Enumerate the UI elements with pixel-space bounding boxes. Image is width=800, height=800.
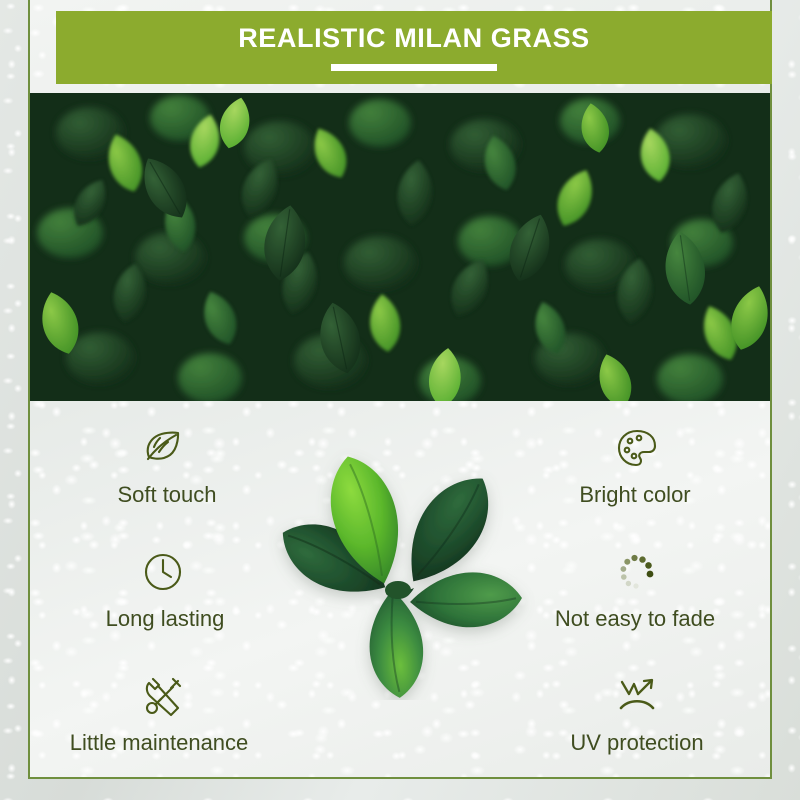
feature-bright-color: Bright color [512, 416, 762, 540]
feature-label: UV protection [512, 730, 762, 755]
tools-wrench-screwdriver-icon [137, 670, 189, 722]
feature-column-right: Bright color Not eas [512, 416, 762, 788]
paint-palette-icon [611, 422, 663, 474]
feature-uv-protection: UV protection [512, 664, 762, 788]
title-underline-rule [331, 64, 497, 71]
feature-label: Little maintenance [34, 730, 284, 755]
feature-label: Soft touch [42, 482, 292, 507]
feature-soft-touch: Soft touch [38, 416, 288, 540]
feature-little-maintenance: Little maintenance [38, 664, 288, 788]
feature-label: Long lasting [40, 606, 290, 631]
page-title: REALISTIC MILAN GRASS [228, 25, 600, 52]
leaf-feather-icon [137, 422, 189, 474]
feature-column-left: Soft touch Long lasting [38, 416, 288, 788]
feature-label: Bright color [510, 482, 760, 507]
title-banner: REALISTIC MILAN GRASS [56, 11, 772, 84]
feature-list: Soft touch Long lasting [30, 404, 770, 777]
hero-grass-photo [30, 93, 770, 401]
fading-dots-circle-icon [611, 546, 663, 598]
feature-long-lasting: Long lasting [38, 540, 288, 664]
product-infographic: REALISTIC MILAN GRASS [0, 0, 800, 800]
uv-rays-shield-icon [611, 670, 663, 722]
feature-not-easy-to-fade: Not easy to fade [512, 540, 762, 664]
clock-icon [137, 546, 189, 598]
feature-label: Not easy to fade [510, 606, 760, 631]
